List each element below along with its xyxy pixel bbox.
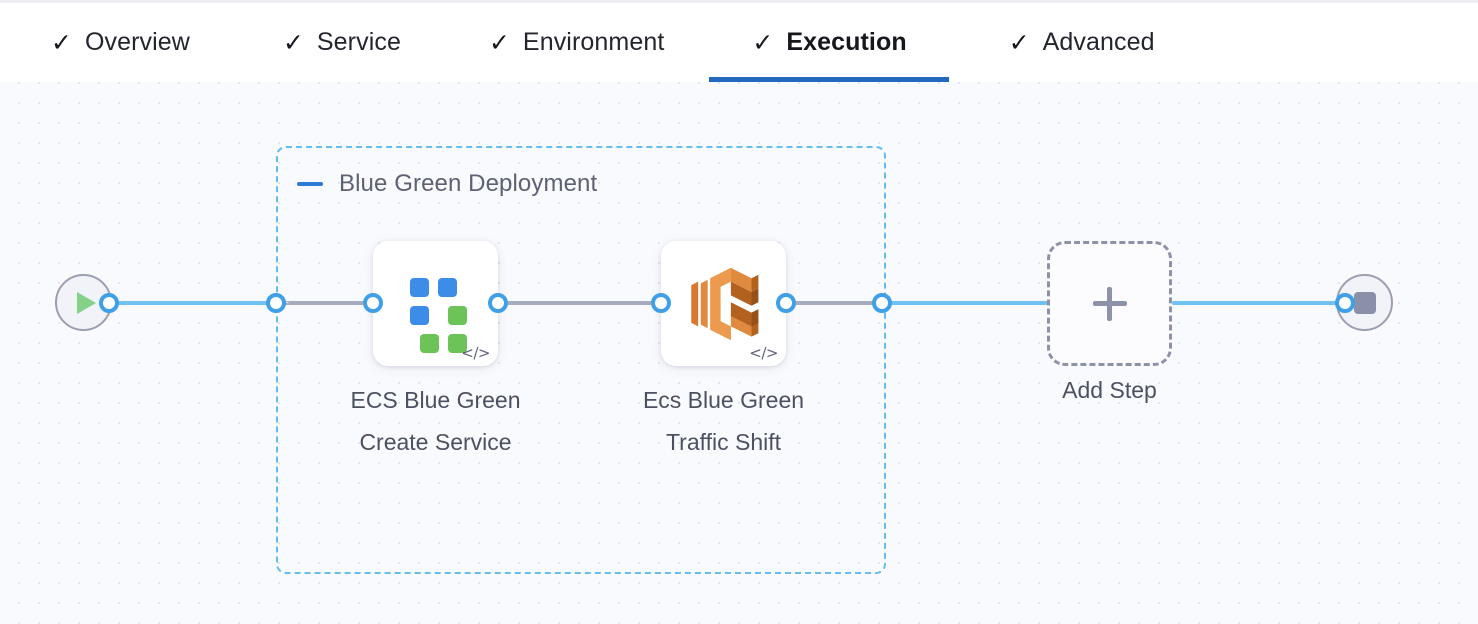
step-card[interactable]: </> (661, 241, 786, 366)
port-group-out[interactable] (872, 293, 892, 313)
check-icon: ✓ (283, 30, 304, 55)
step-ecs-blue-green-traffic-shift[interactable]: </> Ecs Blue Green Traffic Shift (661, 241, 786, 366)
tab-advanced[interactable]: ✓ Advanced (949, 3, 1195, 82)
ecs-blue-green-squares-icon (405, 273, 467, 335)
step-group-header[interactable]: Blue Green Deployment (297, 170, 597, 198)
pipeline-stage-tabs: ✓ Overview ✓ Service ✓ Environment ✓ Exe… (0, 0, 1478, 82)
tab-service[interactable]: ✓ Service (243, 3, 448, 82)
step-label-line2: Traffic Shift (611, 421, 836, 463)
port-step1-out[interactable] (488, 293, 508, 313)
minus-icon[interactable] (297, 182, 323, 186)
step-label: ECS Blue Green Create Service (323, 379, 548, 463)
port-step1-in[interactable] (363, 293, 383, 313)
check-icon: ✓ (489, 30, 510, 55)
code-badge-icon: </> (461, 344, 490, 362)
check-icon: ✓ (1009, 30, 1030, 55)
step-label: Ecs Blue Green Traffic Shift (611, 379, 836, 463)
add-step-node[interactable]: Add Step (1047, 241, 1172, 366)
add-step-label: Add Step (997, 377, 1222, 404)
port-group-in[interactable] (266, 293, 286, 313)
play-icon (77, 292, 96, 314)
pipeline-studio: ✓ Overview ✓ Service ✓ Environment ✓ Exe… (0, 0, 1478, 624)
check-icon: ✓ (752, 30, 773, 55)
tab-overview[interactable]: ✓ Overview (0, 3, 243, 82)
port-end-in[interactable] (1335, 293, 1355, 313)
tab-advanced-label: Advanced (1043, 28, 1155, 57)
step-label-line2: Create Service (323, 421, 548, 463)
step-card[interactable]: </> (373, 241, 498, 366)
edge-start-to-group (108, 301, 284, 305)
tab-overview-label: Overview (85, 28, 190, 57)
add-step-button[interactable] (1047, 241, 1172, 366)
step-label-line1: ECS Blue Green (323, 379, 548, 421)
port-start-out[interactable] (99, 293, 119, 313)
step-group-title: Blue Green Deployment (339, 170, 597, 198)
tab-environment[interactable]: ✓ Environment (448, 3, 709, 82)
stop-icon (1354, 292, 1376, 314)
execution-graph-canvas[interactable]: Blue Green Deployment </> (0, 82, 1478, 624)
code-badge-icon: </> (749, 344, 778, 362)
port-step2-out[interactable] (776, 293, 796, 313)
tab-execution-label: Execution (786, 28, 906, 57)
step-label-line1: Ecs Blue Green (611, 379, 836, 421)
plus-icon (1093, 287, 1127, 321)
step-group-blue-green-deployment[interactable] (276, 146, 886, 574)
tab-service-label: Service (317, 28, 401, 57)
port-step2-in[interactable] (651, 293, 671, 313)
tab-environment-label: Environment (523, 28, 664, 57)
aws-ecs-icon (681, 261, 767, 347)
edge-group-to-addstep (884, 301, 1052, 305)
step-ecs-blue-green-create-service[interactable]: </> ECS Blue Green Create Service (373, 241, 498, 366)
edge-addstep-to-end (1172, 301, 1344, 305)
tab-execution[interactable]: ✓ Execution (709, 3, 948, 82)
check-icon: ✓ (51, 30, 72, 55)
